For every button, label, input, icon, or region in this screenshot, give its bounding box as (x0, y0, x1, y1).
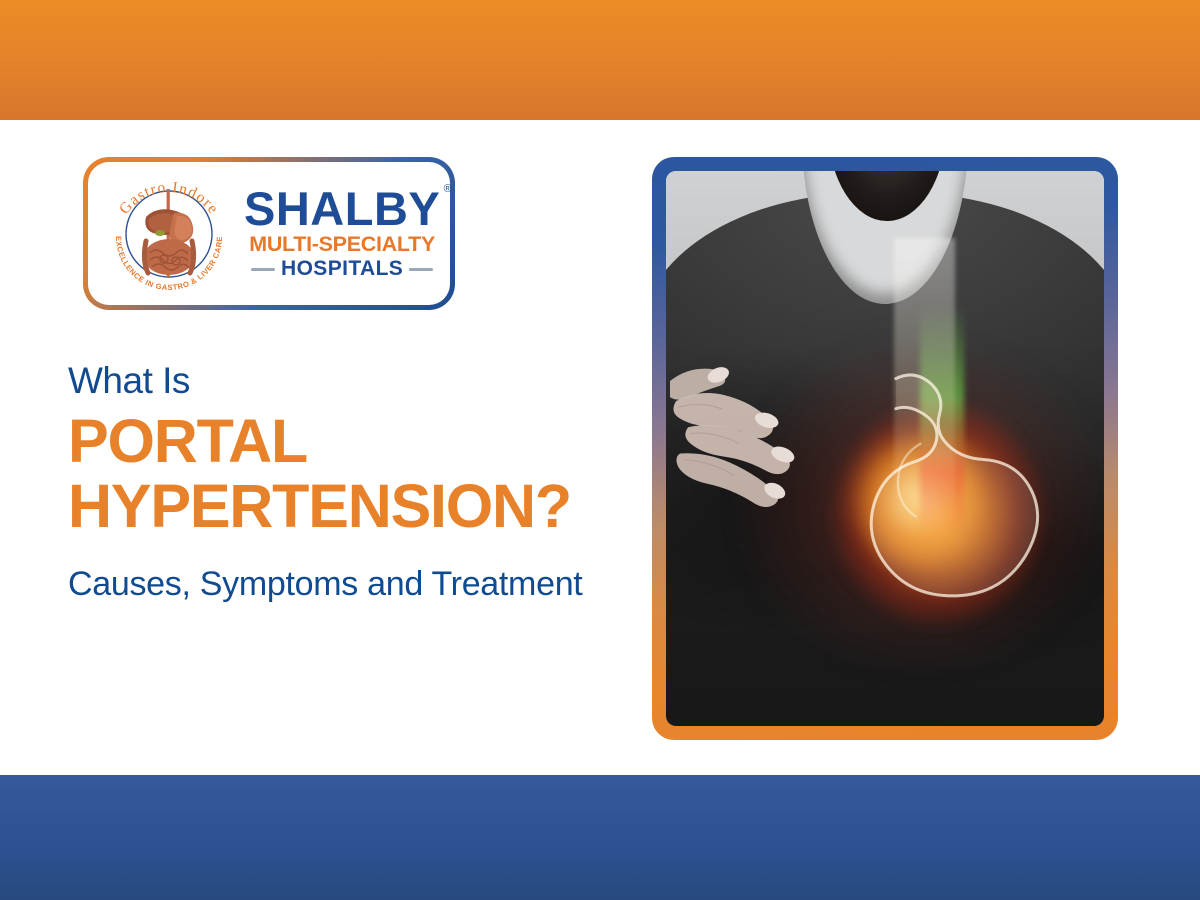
registered-mark-icon: ® (444, 184, 453, 195)
gastro-indore-emblem: Gastro Indore EXCELLENCE IN GASTRO & LIV… (102, 167, 236, 301)
bottom-decorative-bar (0, 775, 1200, 900)
shalby-main-label: SHALBY (244, 182, 440, 235)
logo-card: Gastro Indore EXCELLENCE IN GASTRO & LIV… (83, 157, 455, 310)
headline-subtitle: Causes, Symptoms and Treatment (68, 563, 588, 607)
headline-title-line-2: HYPERTENSION? (68, 474, 668, 539)
shalby-sub-text: MULTI-SPECIALTY (249, 232, 435, 256)
photo-scene (666, 171, 1104, 726)
top-decorative-bar (0, 0, 1200, 120)
shalby-wordmark: SHALBY ® MULTI-SPECIALTY HOSPITALS (244, 186, 440, 281)
photo-stomach-outline (815, 326, 1069, 637)
rule-left (251, 268, 275, 271)
headline-block: What Is PORTAL HYPERTENSION? (68, 362, 668, 538)
headline-title-line-1: PORTAL (68, 409, 668, 474)
shalby-main-text: SHALBY ® (244, 186, 440, 232)
logo-inner: Gastro Indore EXCELLENCE IN GASTRO & LIV… (88, 167, 450, 301)
photo-image (666, 171, 1104, 726)
headline-eyebrow: What Is (68, 362, 668, 401)
photo-frame (652, 157, 1118, 740)
rule-right (409, 268, 433, 271)
shalby-hospitals-row: HOSPITALS (251, 257, 433, 281)
shalby-hospitals-text: HOSPITALS (281, 257, 403, 281)
